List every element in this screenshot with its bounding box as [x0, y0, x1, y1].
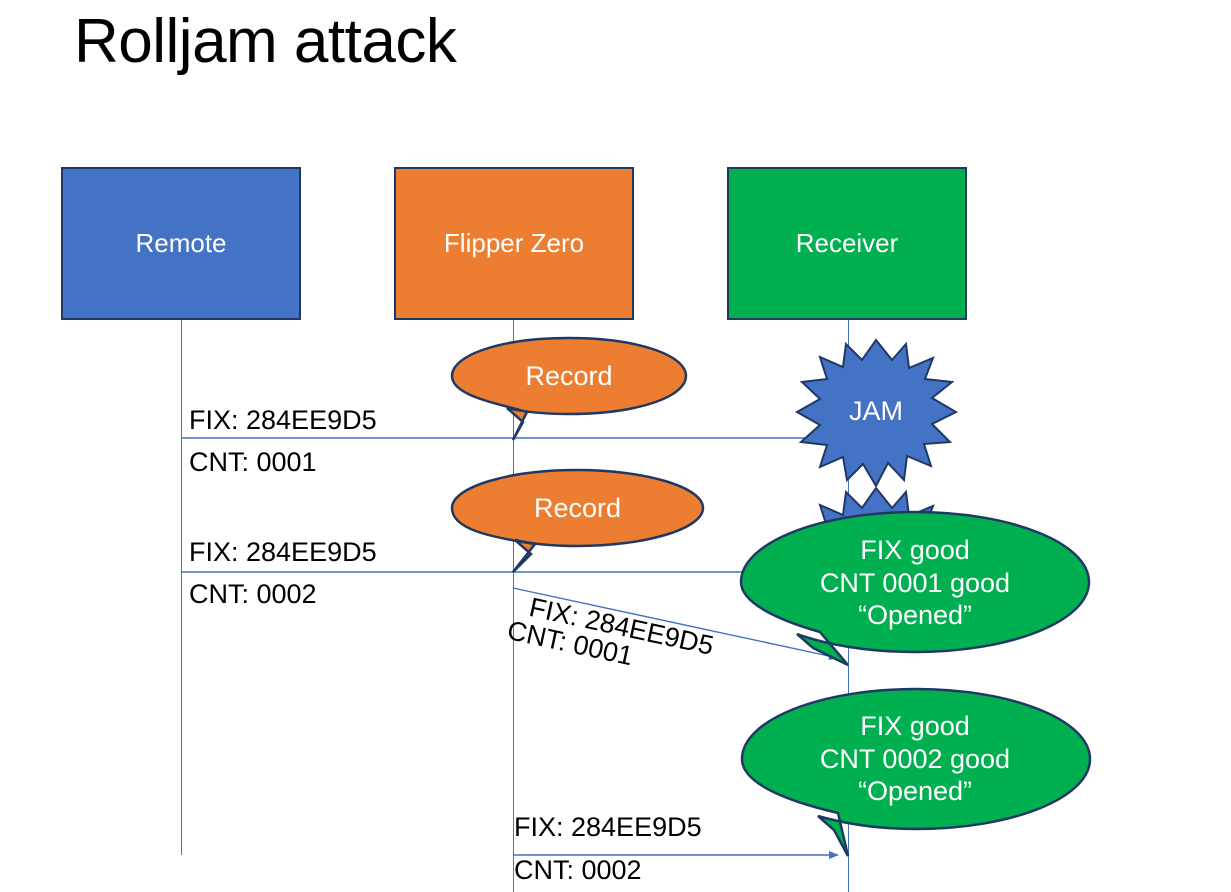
message-label-1-cnt: CNT: 0001 [189, 448, 317, 476]
callout-result-2[interactable] [742, 689, 1090, 856]
message-label-2-fix: FIX: 284EE9D5 [189, 538, 377, 566]
slide-canvas: Rolljam attack Remote Flipper Zero Recei… [0, 0, 1231, 892]
callout-result-1[interactable] [741, 512, 1089, 665]
message-label-1-fix: FIX: 284EE9D5 [189, 406, 377, 434]
message-label-2-cnt: CNT: 0002 [189, 580, 317, 608]
message-label-4-cnt: CNT: 0002 [514, 856, 642, 884]
message-label-4-fix: FIX: 284EE9D5 [514, 813, 702, 841]
result-callout-layer [0, 0, 1231, 892]
